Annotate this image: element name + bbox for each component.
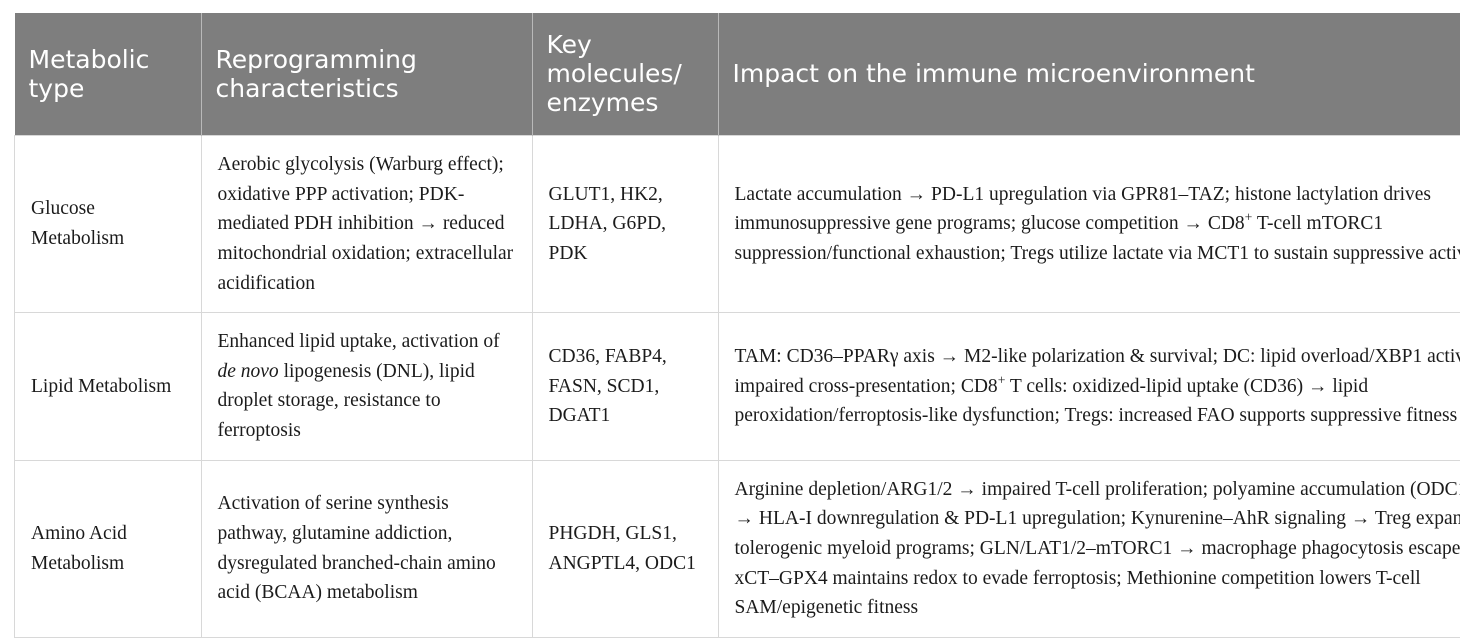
cell-reprogramming-characteristics: Activation of serine synthesis pathway, … bbox=[201, 460, 532, 637]
table-row: Lipid Metabolism Enhanced lipid uptake, … bbox=[15, 313, 1460, 461]
metabolic-reprogramming-table: Metabolic type Reprogramming characteris… bbox=[14, 13, 1460, 638]
cell-metabolic-type: Glucose Metabolism bbox=[15, 136, 202, 313]
column-header-impact-immune-microenvironment: Impact on the immune microenvironment bbox=[718, 13, 1460, 136]
table-header-row: Metabolic type Reprogramming characteris… bbox=[15, 13, 1460, 136]
cell-metabolic-type: Amino Acid Metabolism bbox=[15, 460, 202, 637]
cell-reprogramming-characteristics: Enhanced lipid uptake, activation of de … bbox=[201, 313, 532, 461]
cell-metabolic-type: Lipid Metabolism bbox=[15, 313, 202, 461]
table-header: Metabolic type Reprogramming characteris… bbox=[15, 13, 1460, 136]
column-header-reprogramming-characteristics: Reprogramming characteristics bbox=[201, 13, 532, 136]
cell-key-molecules-enzymes: GLUT1, HK2, LDHA, G6PD, PDK bbox=[532, 136, 718, 313]
cell-reprogramming-characteristics: Aerobic glycolysis (Warburg effect); oxi… bbox=[201, 136, 532, 313]
column-header-key-molecules-enzymes: Key molecules/ enzymes bbox=[532, 13, 718, 136]
table-body: Glucose Metabolism Aerobic glycolysis (W… bbox=[15, 136, 1460, 638]
cell-key-molecules-enzymes: CD36, FABP4, FASN, SCD1, DGAT1 bbox=[532, 313, 718, 461]
metabolic-reprogramming-table-container: Metabolic type Reprogramming characteris… bbox=[14, 13, 1444, 561]
cell-key-molecules-enzymes: PHGDH, GLS1, ANGPTL4, ODC1 bbox=[532, 460, 718, 637]
table-row: Glucose Metabolism Aerobic glycolysis (W… bbox=[15, 136, 1460, 313]
cell-impact-immune-microenvironment: Arginine depletion/ARG1/2 → impaired T-c… bbox=[718, 460, 1460, 637]
cell-impact-immune-microenvironment: TAM: CD36–PPARγ axis → M2-like polarizat… bbox=[718, 313, 1460, 461]
column-header-metabolic-type: Metabolic type bbox=[15, 13, 202, 136]
table-row: Amino Acid Metabolism Activation of seri… bbox=[15, 460, 1460, 637]
cell-impact-immune-microenvironment: Lactate accumulation → PD-L1 upregulatio… bbox=[718, 136, 1460, 313]
